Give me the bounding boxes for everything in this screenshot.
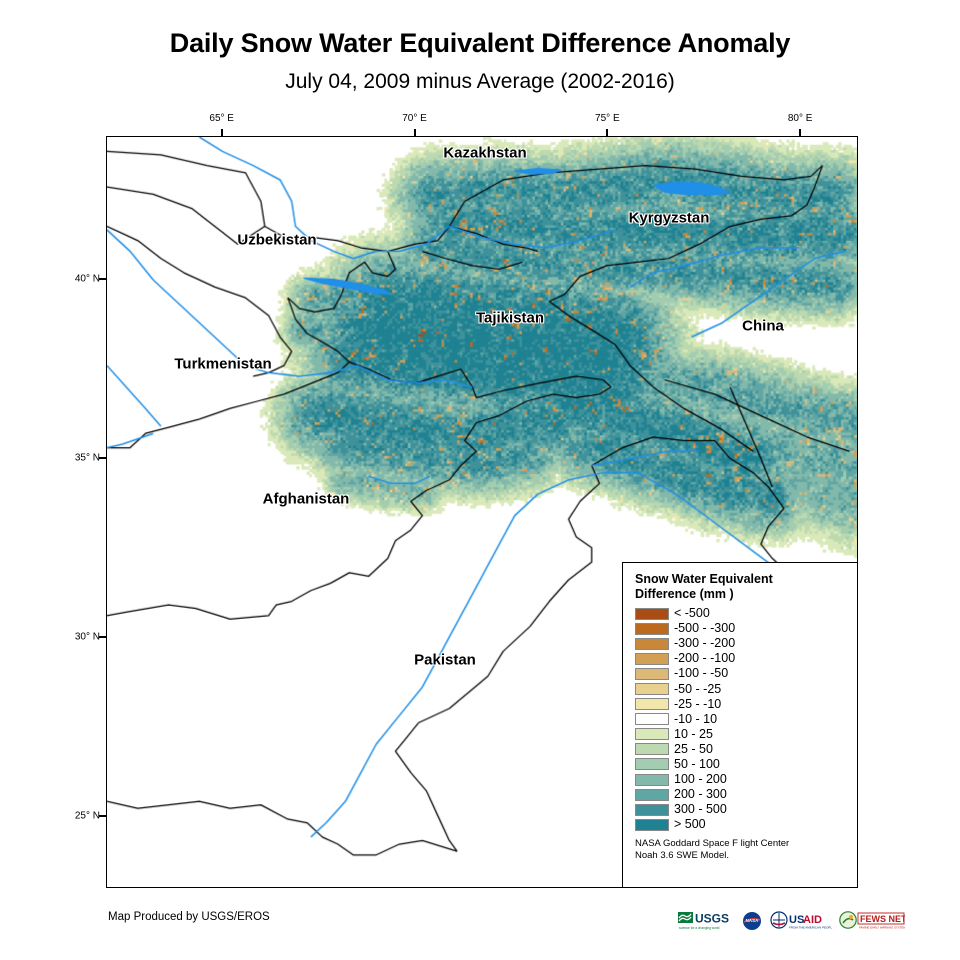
svg-text:AID: AID bbox=[803, 914, 822, 926]
lat-tick-label: 25° N bbox=[64, 811, 100, 822]
legend-title-line2: Difference (mm ) bbox=[635, 587, 847, 602]
legend-label: -50 - -25 bbox=[674, 683, 721, 696]
legend-label: -10 - 10 bbox=[674, 713, 717, 726]
lat-tick-mark bbox=[99, 815, 106, 817]
lat-tick-mark bbox=[99, 636, 106, 638]
lat-tick-mark bbox=[99, 457, 106, 459]
legend-swatch bbox=[635, 623, 669, 635]
map-legend: Snow Water Equivalent Difference (mm ) <… bbox=[622, 562, 858, 888]
legend-entry: -500 - -300 bbox=[635, 621, 847, 636]
legend-entry: 25 - 50 bbox=[635, 742, 847, 757]
legend-entry: -10 - 10 bbox=[635, 712, 847, 727]
legend-swatch bbox=[635, 713, 669, 725]
legend-entry: < -500 bbox=[635, 606, 847, 621]
legend-label: > 500 bbox=[674, 818, 706, 831]
svg-text:FEWS NET: FEWS NET bbox=[860, 914, 905, 924]
svg-text:FROM THE AMERICAN PEOPLE: FROM THE AMERICAN PEOPLE bbox=[789, 926, 832, 930]
legend-entry: 100 - 200 bbox=[635, 772, 847, 787]
legend-swatch bbox=[635, 698, 669, 710]
legend-entry: -300 - -200 bbox=[635, 636, 847, 651]
legend-entry: 50 - 100 bbox=[635, 757, 847, 772]
legend-entry: -200 - -100 bbox=[635, 651, 847, 666]
producer-credit: Map Produced by USGS/EROS bbox=[108, 911, 270, 923]
lat-tick-label: 30° N bbox=[64, 632, 100, 643]
legend-swatch bbox=[635, 743, 669, 755]
legend-label: -100 - -50 bbox=[674, 667, 728, 680]
legend-label: -25 - -10 bbox=[674, 698, 721, 711]
legend-entry: 200 - 300 bbox=[635, 787, 847, 802]
usgs-logo: USGS science for a changing world bbox=[678, 910, 734, 932]
legend-title: Snow Water Equivalent Difference (mm ) bbox=[635, 572, 847, 602]
usaid-logo: US AID FROM THE AMERICAN PEOPLE bbox=[770, 910, 832, 932]
legend-label: 300 - 500 bbox=[674, 803, 727, 816]
lon-tick-mark bbox=[799, 129, 801, 136]
legend-swatch bbox=[635, 653, 669, 665]
legend-swatch bbox=[635, 789, 669, 801]
lon-tick-mark bbox=[221, 129, 223, 136]
legend-swatch bbox=[635, 638, 669, 650]
legend-entry: -100 - -50 bbox=[635, 666, 847, 681]
legend-note-line2: Noah 3.6 SWE Model. bbox=[635, 850, 847, 862]
legend-label: -200 - -100 bbox=[674, 652, 735, 665]
legend-label: 50 - 100 bbox=[674, 758, 720, 771]
lon-tick-label: 75° E bbox=[595, 113, 620, 124]
lon-tick-label: 65° E bbox=[209, 113, 234, 124]
legend-label: 25 - 50 bbox=[674, 743, 713, 756]
legend-note: NASA Goddard Space F light Center Noah 3… bbox=[635, 838, 847, 862]
lat-tick-mark bbox=[99, 278, 106, 280]
legend-entry: 300 - 500 bbox=[635, 802, 847, 817]
agency-logos: USGS science for a changing world NASA U… bbox=[678, 908, 905, 934]
legend-swatch bbox=[635, 728, 669, 740]
nasa-logo: NASA bbox=[741, 910, 763, 932]
page-subtitle: July 04, 2009 minus Average (2002-2016) bbox=[0, 70, 960, 94]
legend-entry: -50 - -25 bbox=[635, 681, 847, 696]
legend-label: < -500 bbox=[674, 607, 710, 620]
svg-text:FAMINE EARLY WARNING SYSTEMS N: FAMINE EARLY WARNING SYSTEMS NETWORK bbox=[859, 926, 905, 930]
legend-label: -500 - -300 bbox=[674, 622, 735, 635]
fewsnet-logo: FEWS NET FAMINE EARLY WARNING SYSTEMS NE… bbox=[839, 910, 905, 932]
lon-tick-mark bbox=[414, 129, 416, 136]
legend-label: 10 - 25 bbox=[674, 728, 713, 741]
lat-tick-label: 40° N bbox=[64, 274, 100, 285]
legend-title-line1: Snow Water Equivalent bbox=[635, 572, 847, 587]
legend-label: 200 - 300 bbox=[674, 788, 727, 801]
lon-tick-label: 80° E bbox=[788, 113, 813, 124]
legend-swatch bbox=[635, 668, 669, 680]
legend-entry: -25 - -10 bbox=[635, 697, 847, 712]
page-title: Daily Snow Water Equivalent Difference A… bbox=[0, 28, 960, 59]
legend-entry: > 500 bbox=[635, 817, 847, 832]
lon-tick-mark bbox=[606, 129, 608, 136]
lon-tick-label: 70° E bbox=[402, 113, 427, 124]
lat-tick-label: 35° N bbox=[64, 453, 100, 464]
svg-text:US: US bbox=[789, 914, 804, 926]
svg-text:science for a changing world: science for a changing world bbox=[679, 926, 720, 930]
svg-text:USGS: USGS bbox=[695, 912, 729, 926]
legend-swatch bbox=[635, 819, 669, 831]
svg-text:NASA: NASA bbox=[746, 918, 760, 923]
legend-entries: < -500-500 - -300-300 - -200-200 - -100-… bbox=[635, 606, 847, 832]
legend-swatch bbox=[635, 683, 669, 695]
map-page: Daily Snow Water Equivalent Difference A… bbox=[0, 0, 960, 960]
legend-entry: 10 - 25 bbox=[635, 727, 847, 742]
legend-label: -300 - -200 bbox=[674, 637, 735, 650]
legend-swatch bbox=[635, 804, 669, 816]
legend-note-line1: NASA Goddard Space F light Center bbox=[635, 838, 847, 850]
legend-swatch bbox=[635, 774, 669, 786]
legend-swatch bbox=[635, 608, 669, 620]
legend-swatch bbox=[635, 758, 669, 770]
legend-label: 100 - 200 bbox=[674, 773, 727, 786]
